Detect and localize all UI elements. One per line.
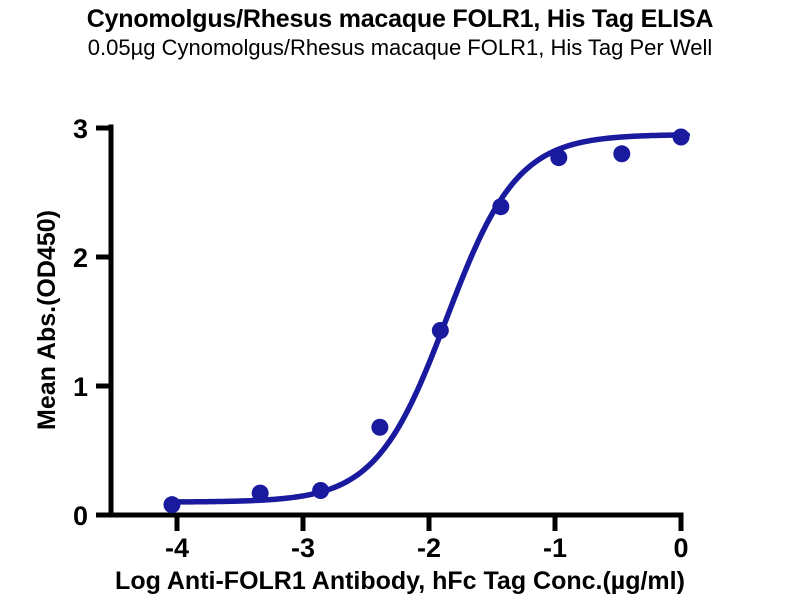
x-tick-label: -1 xyxy=(543,533,567,563)
x-tick-label: -2 xyxy=(417,533,441,563)
data-point-group xyxy=(163,129,689,514)
x-tick-label: -4 xyxy=(165,533,189,563)
y-axis-title: Mean Abs.(OD450) xyxy=(33,210,61,430)
data-point-marker xyxy=(550,149,567,166)
data-point-marker xyxy=(371,419,388,436)
elisa-chart-figure: Cynomolgus/Rhesus macaque FOLR1, His Tag… xyxy=(0,0,800,600)
y-tick-label: 1 xyxy=(73,372,88,402)
x-axis-tick-labels: -4-3-2-10 xyxy=(165,533,689,563)
y-tick-label: 2 xyxy=(73,243,88,273)
data-point-marker xyxy=(432,322,449,339)
y-tick-label: 0 xyxy=(73,501,88,531)
data-point-marker xyxy=(613,145,630,162)
data-point-marker xyxy=(492,198,509,215)
x-tick-label: 0 xyxy=(673,533,688,563)
data-point-marker xyxy=(312,482,329,499)
plot-area: 0123 Mean Abs.(OD450) -4-3-2-10 Log Anti… xyxy=(0,0,800,600)
y-axis-group: 0123 Mean Abs.(OD450) xyxy=(33,114,111,531)
x-tick-label: -3 xyxy=(291,533,315,563)
x-axis-group: -4-3-2-10 Log Anti-FOLR1 Antibody, hFc T… xyxy=(111,515,689,595)
y-tick-label: 3 xyxy=(73,114,88,144)
data-point-marker xyxy=(252,485,269,502)
x-axis-title: Log Anti-FOLR1 Antibody, hFc Tag Conc.(µ… xyxy=(115,567,685,595)
data-point-marker xyxy=(163,496,180,513)
sigmoid-fit-curve xyxy=(171,135,688,502)
y-axis-tick-labels: 0123 xyxy=(73,114,88,531)
data-point-marker xyxy=(673,129,690,146)
